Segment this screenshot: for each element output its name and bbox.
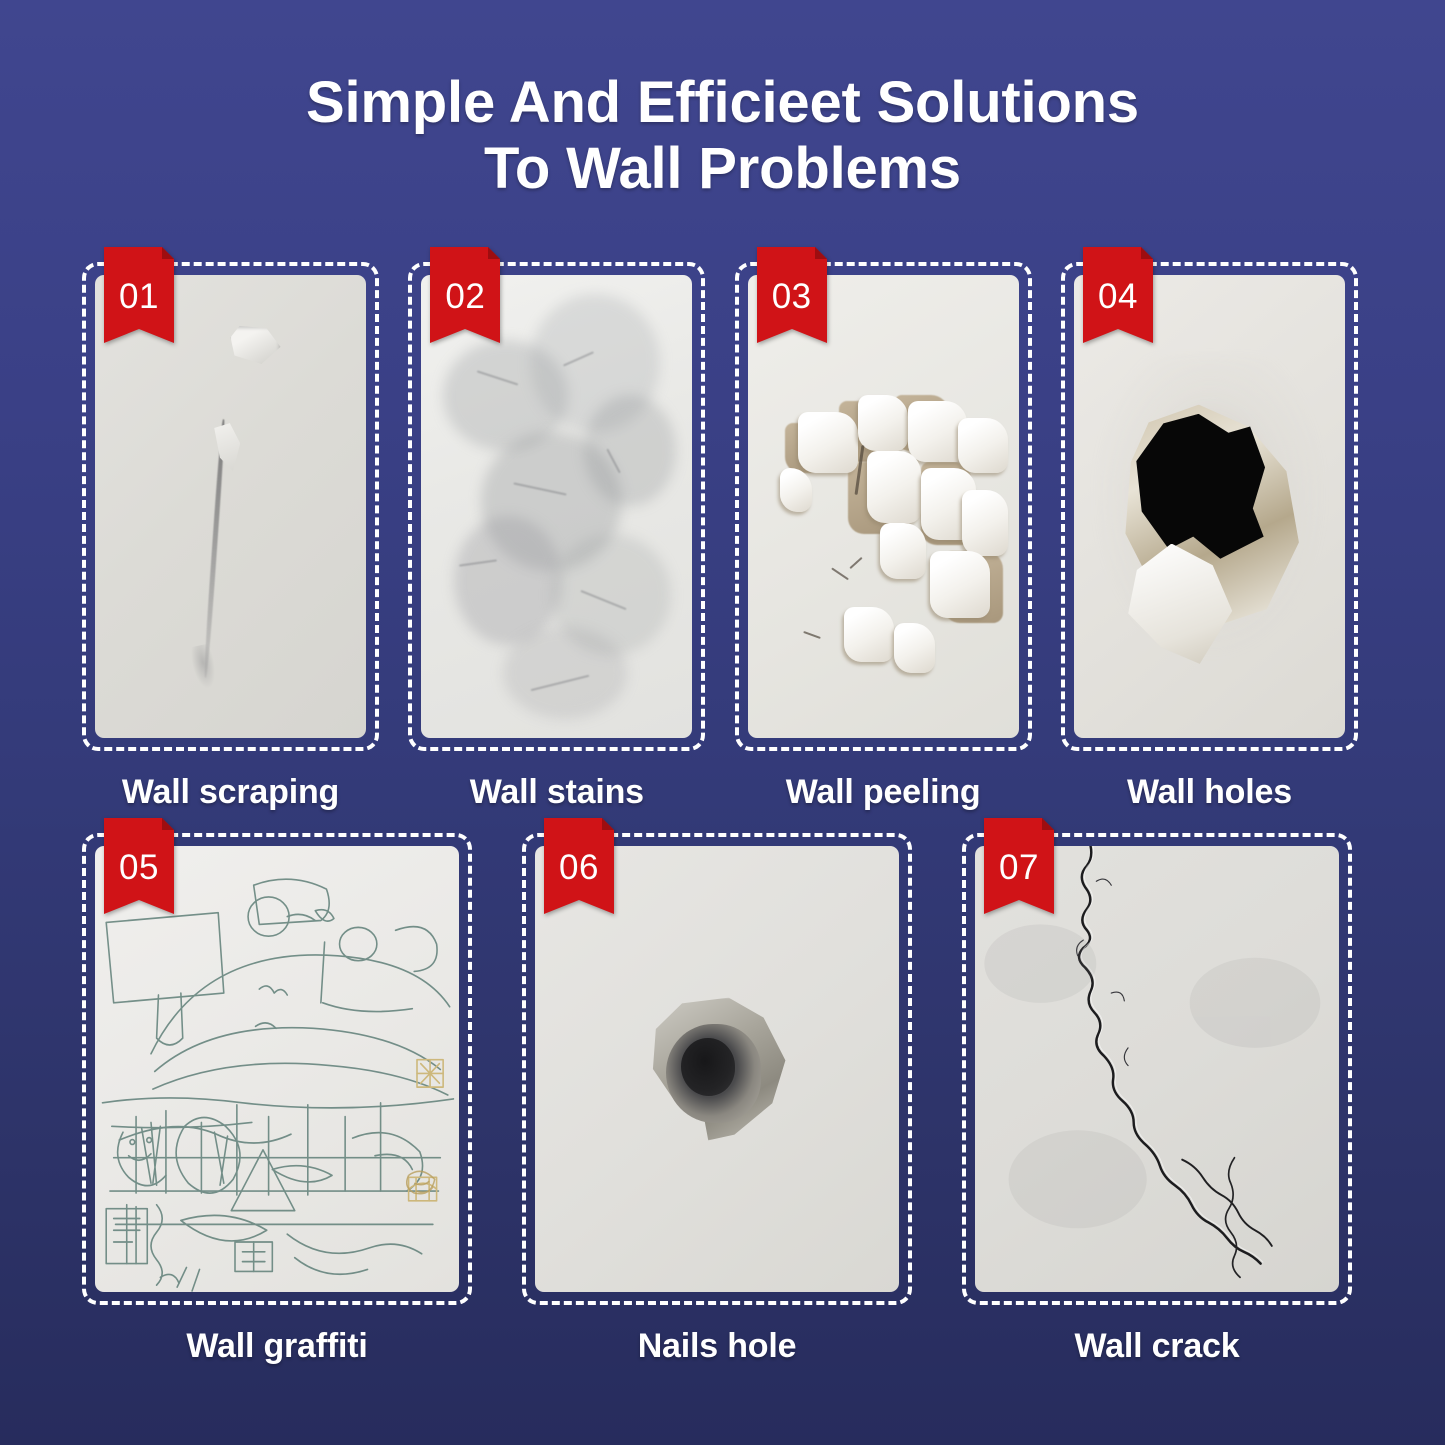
wall-peeling-photo — [748, 275, 1019, 738]
card-label: Wall graffiti — [186, 1327, 367, 1366]
wall-holes-photo — [1074, 275, 1345, 738]
problem-grid-row-1: 01 Wall scraping 02 — [82, 262, 1358, 812]
badge-number: 07 — [984, 850, 1054, 885]
problem-card-wall-stains[interactable]: 02 Wall stains — [408, 262, 705, 812]
ribbon-badge-icon: 02 — [430, 247, 500, 343]
card-label: Nails hole — [638, 1327, 797, 1366]
ribbon-badge-icon: 01 — [104, 247, 174, 343]
ribbon-badge-icon: 07 — [984, 818, 1054, 914]
badge-number: 05 — [104, 850, 174, 885]
problem-card-wall-graffiti[interactable]: 05 — [82, 833, 472, 1366]
problem-card-wall-peeling[interactable]: 03 — [735, 262, 1032, 812]
problem-card-nails-hole[interactable]: 06 Nails hole — [522, 833, 912, 1366]
photo-frame: 01 — [82, 262, 379, 751]
photo-frame: 05 — [82, 833, 472, 1305]
card-label: Wall peeling — [786, 773, 981, 812]
card-label: Wall holes — [1127, 773, 1292, 812]
problem-card-wall-scraping[interactable]: 01 Wall scraping — [82, 262, 379, 812]
badge-number: 03 — [757, 279, 827, 314]
ribbon-badge-icon: 04 — [1083, 247, 1153, 343]
photo-frame: 03 — [735, 262, 1032, 751]
card-label: Wall stains — [470, 773, 644, 812]
problem-card-wall-crack[interactable]: 07 Wall crack — [962, 833, 1352, 1366]
photo-frame: 02 — [408, 262, 705, 751]
ribbon-badge-icon: 03 — [757, 247, 827, 343]
photo-frame: 07 — [962, 833, 1352, 1305]
card-label: Wall scraping — [122, 773, 339, 812]
ribbon-badge-icon: 06 — [544, 818, 614, 914]
badge-number: 06 — [544, 850, 614, 885]
wall-scraping-photo — [95, 275, 366, 738]
ribbon-badge-icon: 05 — [104, 818, 174, 914]
photo-frame: 06 — [522, 833, 912, 1305]
card-label: Wall crack — [1075, 1327, 1240, 1366]
photo-frame: 04 — [1061, 262, 1358, 751]
wall-stains-photo — [421, 275, 692, 738]
page-title: Simple And Efficieet Solutions To Wall P… — [0, 70, 1445, 201]
problem-grid-row-2: 05 — [82, 833, 1352, 1366]
badge-number: 02 — [430, 279, 500, 314]
badge-number: 04 — [1083, 279, 1153, 314]
badge-number: 01 — [104, 279, 174, 314]
problem-card-wall-holes[interactable]: 04 Wall holes — [1061, 262, 1358, 812]
